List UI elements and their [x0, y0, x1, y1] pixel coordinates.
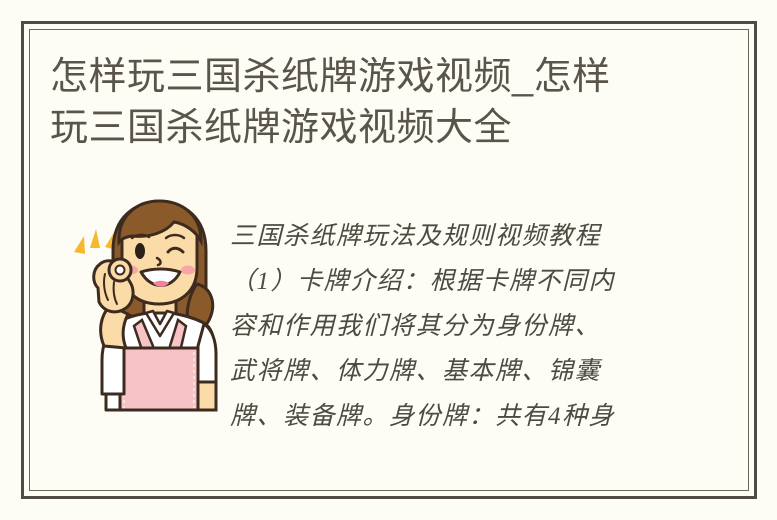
page-title: 怎样玩三国杀纸牌游戏视频_怎样 玩三国杀纸牌游戏视频大全 — [50, 52, 710, 154]
sparkle-icon — [74, 229, 115, 254]
winking-woman-ok-gesture-illustration — [58, 196, 228, 416]
ok-hand-icon — [94, 259, 133, 312]
body-text-line-3: 容和作用我们将其分为身份牌、 — [230, 304, 695, 349]
body-text-line-2: （1）卡牌介绍：根据卡牌不同内 — [230, 259, 695, 304]
body-text: 三国杀纸牌玩法及规则视频教程 （1）卡牌介绍：根据卡牌不同内 容和作用我们将其分… — [230, 214, 695, 439]
page-title-line-2: 玩三国杀纸牌游戏视频大全 — [50, 103, 710, 154]
body-text-line-1: 三国杀纸牌玩法及规则视频教程 — [230, 214, 695, 259]
content-row: 三国杀纸牌玩法及规则视频教程 （1）卡牌介绍：根据卡牌不同内 容和作用我们将其分… — [50, 196, 710, 456]
body-text-line-4: 武将牌、体力牌、基本牌、锦囊 — [230, 349, 695, 394]
page-title-line-1: 怎样玩三国杀纸牌游戏视频_怎样 — [50, 52, 710, 103]
page-root: 怎样玩三国杀纸牌游戏视频_怎样 玩三国杀纸牌游戏视频大全 — [0, 0, 777, 520]
body-text-line-5: 牌、装备牌。身份牌：共有4种身 — [230, 394, 695, 439]
